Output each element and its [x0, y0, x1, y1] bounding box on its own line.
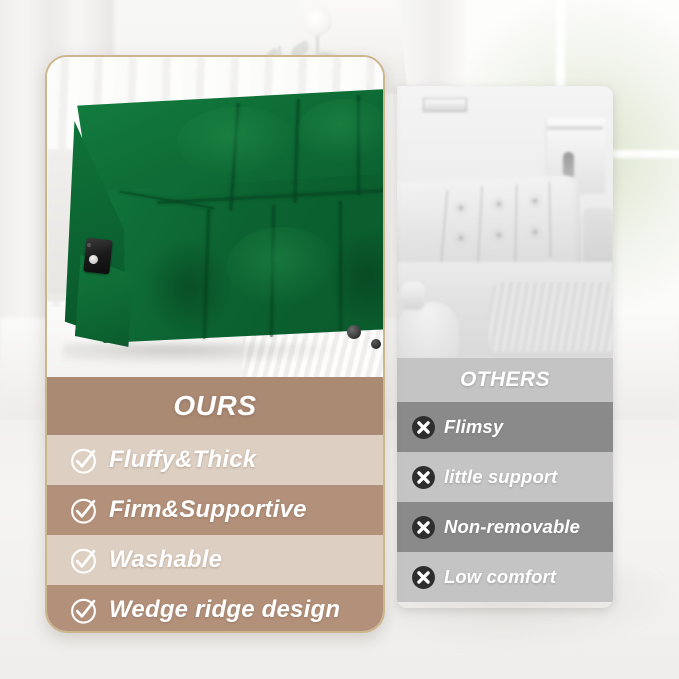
- photo-small-lamp: [401, 282, 425, 310]
- wedge-shading: [143, 237, 233, 337]
- ours-title: OURS: [173, 390, 256, 422]
- others-feature-label: Low comfort: [444, 566, 556, 588]
- wedge-contact-shadow: [63, 343, 343, 365]
- x-circle-icon: [411, 415, 436, 440]
- others-feature-row: Non-removable: [397, 502, 613, 552]
- photo-pillow-tuft: [497, 233, 501, 237]
- x-circle-icon: [411, 515, 436, 540]
- photo-pillow-tuft: [459, 206, 463, 210]
- flower-bloom: [302, 6, 332, 36]
- others-feature-row: Flimsy: [397, 402, 613, 452]
- photo-pillow-tuft: [497, 202, 501, 206]
- wedge-highlight: [297, 99, 383, 163]
- phone-camera-lens-small: [87, 243, 91, 247]
- ours-feature-list: OURS Fluffy&Thick Firm&Supportive Washab…: [47, 377, 383, 633]
- photo-side-table: [397, 302, 459, 358]
- photo-pillow-tuft: [533, 199, 537, 203]
- others-feature-row: Low comfort: [397, 552, 613, 602]
- wedge-highlight: [227, 227, 337, 307]
- photo-bed-knob: [347, 325, 361, 339]
- others-feature-label: little support: [444, 466, 557, 488]
- check-circle-icon: [69, 496, 98, 525]
- others-feature-label: Non-removable: [444, 516, 580, 538]
- photo-picture-frame: [423, 98, 467, 112]
- check-circle-icon: [69, 596, 98, 625]
- photo-pillow-tuft: [533, 230, 537, 234]
- photo-vase-object: [563, 152, 574, 178]
- ours-header-row: OURS: [47, 377, 383, 435]
- photo-pillow-tuft: [459, 236, 463, 240]
- x-circle-icon: [411, 565, 436, 590]
- photo-bed-knob: [371, 339, 381, 349]
- others-feature-list: OTHERS Flimsy little support Non-removab…: [397, 358, 613, 602]
- others-feature-label: Flimsy: [444, 416, 503, 438]
- check-circle-icon: [69, 546, 98, 575]
- ours-comparison-card: OURS Fluffy&Thick Firm&Supportive Washab…: [45, 55, 385, 633]
- photo-throw-blanket: [489, 282, 613, 352]
- ours-feature-row: Wedge ridge design: [47, 585, 383, 633]
- wedge-pillow: [57, 77, 383, 357]
- ours-feature-row: Firm&Supportive: [47, 485, 383, 535]
- ours-feature-label: Firm&Supportive: [109, 496, 307, 524]
- others-feature-row: little support: [397, 452, 613, 502]
- ours-feature-label: Wedge ridge design: [109, 596, 340, 624]
- photo-niche-shelf: [547, 126, 603, 130]
- others-title: OTHERS: [460, 368, 550, 392]
- ours-feature-row: Fluffy&Thick: [47, 435, 383, 485]
- wedge-highlight: [177, 107, 297, 177]
- ours-feature-label: Fluffy&Thick: [109, 446, 256, 474]
- ours-feature-label: Washable: [109, 546, 222, 574]
- x-circle-icon: [411, 465, 436, 490]
- green-wedge-pillow-photo: [47, 57, 383, 377]
- others-comparison-card: OTHERS Flimsy little support Non-removab…: [397, 86, 613, 608]
- others-header-row: OTHERS: [397, 358, 613, 402]
- ours-feature-row: Washable: [47, 535, 383, 585]
- check-circle-icon: [69, 446, 98, 475]
- competitor-pillow-photo: [397, 86, 613, 358]
